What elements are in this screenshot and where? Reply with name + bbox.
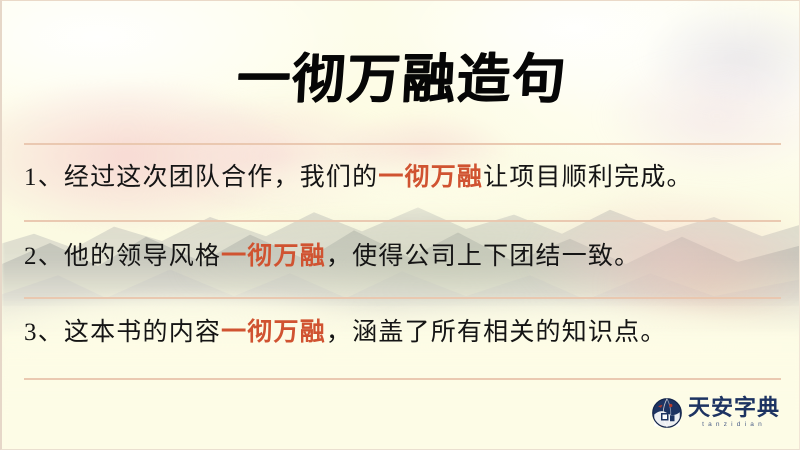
sentence-text-after: 让项目顺利完成。	[483, 164, 693, 191]
slide-canvas: 一彻万融造句 1、经过这次团队合作，我们的一彻万融让项目顺利完成。 2、他的领导…	[0, 0, 800, 450]
sentence-text-after: ，使得公司上下团结一致。	[326, 243, 640, 270]
slide-content: 一彻万融造句 1、经过这次团队合作，我们的一彻万融让项目顺利完成。 2、他的领导…	[2, 1, 800, 450]
example-sentence-2: 2、他的领导风格一彻万融，使得公司上下团结一致。	[24, 243, 784, 271]
idiom-highlight: 一彻万融	[221, 243, 326, 270]
sentence-number: 1、	[24, 164, 64, 191]
example-sentence-1: 1、经过这次团队合作，我们的一彻万融让项目顺利完成。	[24, 164, 784, 192]
idiom-highlight: 一彻万融	[378, 164, 483, 191]
brand-logo-text: 天安字典 tanzidian	[688, 397, 780, 429]
divider-2	[24, 297, 781, 299]
divider-1	[24, 220, 781, 222]
brand-logo: 天安字典 tanzidian	[652, 397, 780, 429]
divider-bottom	[24, 378, 781, 380]
example-sentence-3: 3、这本书的内容一彻万融，涵盖了所有相关的知识点。	[24, 319, 784, 347]
page-title: 一彻万融造句	[1, 54, 800, 107]
sentence-text-before: 他的领导风格	[64, 243, 221, 270]
idiom-highlight: 一彻万融	[221, 319, 326, 346]
sentence-text-after: ，涵盖了所有相关的知识点。	[326, 319, 667, 346]
sentence-number: 3、	[24, 319, 64, 346]
sentence-text-before: 经过这次团队合作，我们的	[64, 164, 378, 191]
sentence-text-before: 这本书的内容	[64, 319, 221, 346]
brand-name-cn: 天安字典	[688, 397, 780, 419]
brand-name-en: tanzidian	[688, 422, 780, 429]
divider-top	[24, 143, 781, 145]
sentence-number: 2、	[24, 243, 64, 270]
globe-seal-icon	[652, 398, 682, 428]
